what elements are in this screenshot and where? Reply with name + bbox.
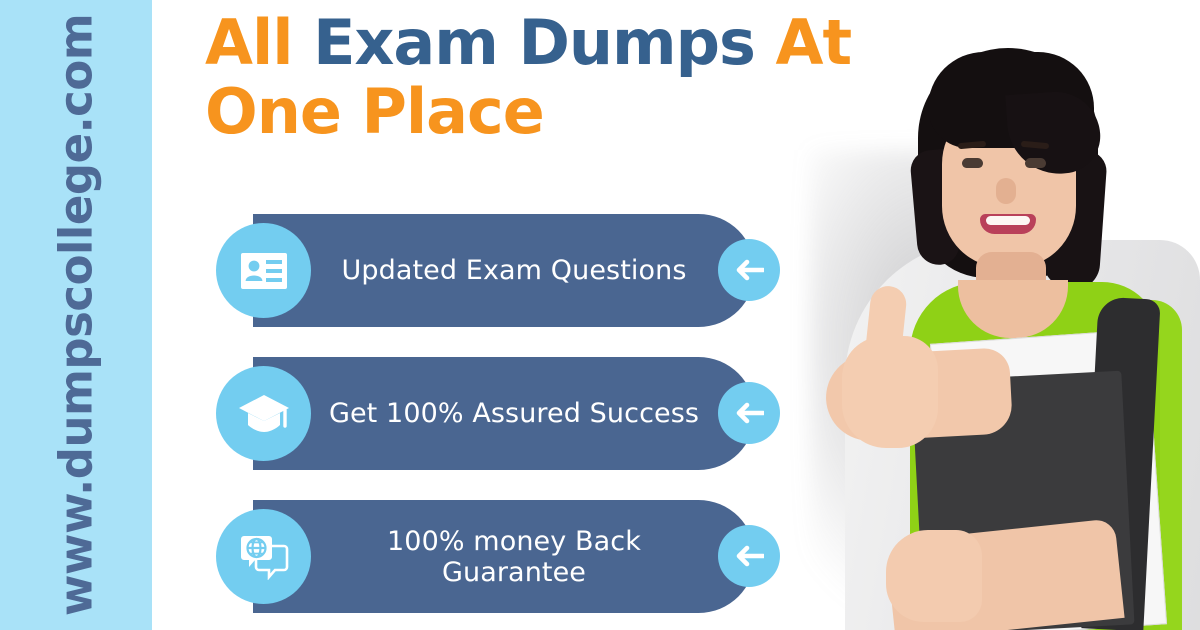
eye-left	[962, 158, 983, 168]
feature-pill[interactable]: Get 100% Assured Success	[253, 357, 755, 470]
feature-label: 100% money Back Guarantee	[328, 500, 700, 613]
feature-icon-badge	[216, 509, 311, 604]
feature-arrow-button[interactable]	[718, 239, 780, 301]
feature-icon-badge	[216, 223, 311, 318]
promo-banner: www.dumpscollege.com All Exam Dumps At O…	[0, 0, 1200, 630]
feature-pill[interactable]: Updated Exam Questions	[253, 214, 755, 327]
feature-icon-badge	[216, 366, 311, 461]
headline-part-1: All	[205, 6, 313, 79]
feature-row[interactable]: 100% money Back Guarantee	[253, 500, 755, 613]
feature-arrow-button[interactable]	[718, 525, 780, 587]
chat-globe-icon	[239, 534, 289, 580]
id-card-icon	[241, 253, 287, 289]
graduation-cap-icon	[238, 393, 290, 435]
arrow-left-icon	[734, 400, 764, 426]
feature-arrow-button[interactable]	[718, 382, 780, 444]
feature-pill[interactable]: 100% money Back Guarantee	[253, 500, 755, 613]
eye-right	[1025, 158, 1046, 168]
arrow-left-icon	[734, 543, 764, 569]
website-url-text: www.dumpscollege.com	[54, 14, 99, 616]
feature-label: Updated Exam Questions	[328, 214, 700, 327]
sidebar-url-band: www.dumpscollege.com	[0, 0, 152, 630]
arrow-left-icon	[734, 257, 764, 283]
feature-row[interactable]: Get 100% Assured Success	[253, 357, 755, 470]
feature-row[interactable]: Updated Exam Questions	[253, 214, 755, 327]
hand-holding-binder	[886, 530, 982, 622]
nose	[996, 178, 1016, 204]
student-photo	[790, 0, 1200, 630]
headline-part-2: Exam Dumps	[313, 6, 775, 79]
feature-label: Get 100% Assured Success	[328, 357, 700, 470]
teeth	[986, 216, 1030, 225]
